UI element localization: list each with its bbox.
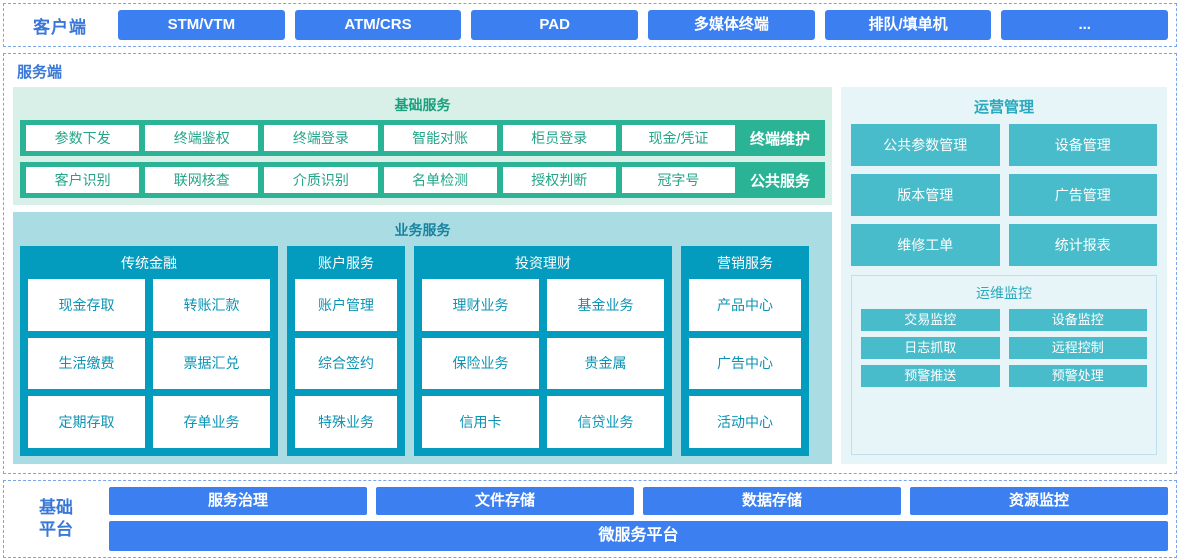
ops-item-version-management[interactable]: 版本管理 bbox=[851, 174, 1000, 216]
basic-item-list-check[interactable]: 名单检测 bbox=[384, 167, 497, 193]
ops-item-device-management[interactable]: 设备管理 bbox=[1009, 124, 1158, 166]
architecture-diagram: 客户端 STM/VTM ATM/CRS PAD 多媒体终端 排队/填单机 ...… bbox=[0, 0, 1180, 560]
biz-item-wealth-management[interactable]: 理财业务 bbox=[422, 279, 539, 331]
biz-item-certificate-deposit[interactable]: 存单业务 bbox=[153, 396, 270, 448]
client-item-pad[interactable]: PAD bbox=[471, 10, 638, 40]
basic-item-terminal-login[interactable]: 终端登录 bbox=[264, 125, 377, 151]
basic-item-cash-voucher[interactable]: 现金/凭证 bbox=[622, 125, 735, 151]
biz-item-cash-deposit-withdraw[interactable]: 现金存取 bbox=[28, 279, 145, 331]
biz-item-account-management[interactable]: 账户管理 bbox=[295, 279, 397, 331]
operations-management-title: 运营管理 bbox=[851, 92, 1157, 124]
business-group-title: 账户服务 bbox=[295, 250, 397, 279]
monitor-item-remote-control[interactable]: 远程控制 bbox=[1009, 337, 1148, 359]
biz-item-product-center[interactable]: 产品中心 bbox=[689, 279, 801, 331]
platform-title-line1: 基础 bbox=[12, 497, 100, 519]
business-group-account-services: 账户服务 账户管理 综合签约 特殊业务 bbox=[287, 246, 405, 456]
biz-item-insurance-business[interactable]: 保险业务 bbox=[422, 338, 539, 390]
services-column: 基础服务 参数下发 终端鉴权 终端登录 智能对账 柜员登录 现金/凭证 终端维护… bbox=[13, 87, 832, 464]
basic-services-block: 基础服务 参数下发 终端鉴权 终端登录 智能对账 柜员登录 现金/凭证 终端维护… bbox=[13, 87, 832, 205]
business-services-title: 业务服务 bbox=[20, 216, 825, 246]
platform-layer: 基础 平台 服务治理 文件存储 数据存储 资源监控 微服务平台 bbox=[3, 480, 1177, 558]
business-services-groups: 传统金融 现金存取 转账汇款 生活缴费 票据汇兑 定期存取 存单业务 bbox=[20, 246, 825, 456]
client-item-stm-vtm[interactable]: STM/VTM bbox=[118, 10, 285, 40]
biz-item-comprehensive-signing[interactable]: 综合签约 bbox=[295, 338, 397, 390]
business-group-items: 现金存取 转账汇款 生活缴费 票据汇兑 定期存取 存单业务 bbox=[28, 279, 270, 448]
platform-item-microservice-platform[interactable]: 微服务平台 bbox=[109, 521, 1168, 551]
basic-item-customer-identification[interactable]: 客户识别 bbox=[26, 167, 139, 193]
terminal-maintenance-tag: 终端维护 bbox=[741, 128, 819, 149]
business-group-marketing: 营销服务 产品中心 广告中心 活动中心 bbox=[681, 246, 809, 456]
client-item-atm-crs[interactable]: ATM/CRS bbox=[295, 10, 462, 40]
business-group-items: 理财业务 基金业务 保险业务 贵金属 信用卡 信贷业务 bbox=[422, 279, 664, 448]
basic-item-terminal-auth[interactable]: 终端鉴权 bbox=[145, 125, 258, 151]
monitor-item-device-monitoring[interactable]: 设备监控 bbox=[1009, 309, 1148, 331]
biz-item-advertising-center[interactable]: 广告中心 bbox=[689, 338, 801, 390]
biz-item-transfer-remittance[interactable]: 转账汇款 bbox=[153, 279, 270, 331]
basic-item-online-verification[interactable]: 联网核查 bbox=[145, 167, 258, 193]
platform-item-data-storage[interactable]: 数据存储 bbox=[643, 487, 901, 515]
operations-monitoring-title: 运维监控 bbox=[861, 280, 1147, 309]
operations-management-panel: 运营管理 公共参数管理 设备管理 版本管理 广告管理 维修工单 统计报表 运维监… bbox=[841, 87, 1167, 464]
monitor-item-transaction-monitoring[interactable]: 交易监控 bbox=[861, 309, 1000, 331]
platform-title-line2: 平台 bbox=[12, 519, 100, 541]
business-group-title: 营销服务 bbox=[689, 250, 801, 279]
client-item-queue-form-machine[interactable]: 排队/填单机 bbox=[825, 10, 992, 40]
operations-monitoring-items: 交易监控 设备监控 日志抓取 远程控制 预警推送 预警处理 bbox=[861, 309, 1147, 387]
platform-item-file-storage[interactable]: 文件存储 bbox=[376, 487, 634, 515]
biz-item-bill-exchange[interactable]: 票据汇兑 bbox=[153, 338, 270, 390]
server-layer: 服务端 基础服务 参数下发 终端鉴权 终端登录 智能对账 柜员登录 现金/凭证 … bbox=[3, 53, 1177, 474]
business-group-traditional-finance: 传统金融 现金存取 转账汇款 生活缴费 票据汇兑 定期存取 存单业务 bbox=[20, 246, 278, 456]
basic-services-title: 基础服务 bbox=[20, 92, 825, 120]
business-group-title: 投资理财 bbox=[422, 250, 664, 279]
platform-items: 服务治理 文件存储 数据存储 资源监控 bbox=[109, 487, 1168, 515]
platform-layer-title: 基础 平台 bbox=[12, 497, 100, 541]
monitor-item-alert-handling[interactable]: 预警处理 bbox=[1009, 365, 1148, 387]
basic-item-smart-reconciliation[interactable]: 智能对账 bbox=[384, 125, 497, 151]
biz-item-credit-business[interactable]: 信贷业务 bbox=[547, 396, 664, 448]
ops-item-public-parameter-management[interactable]: 公共参数管理 bbox=[851, 124, 1000, 166]
operations-items: 公共参数管理 设备管理 版本管理 广告管理 维修工单 统计报表 bbox=[851, 124, 1157, 266]
terminal-maintenance-row: 参数下发 终端鉴权 终端登录 智能对账 柜员登录 现金/凭证 终端维护 bbox=[20, 120, 825, 156]
monitor-item-log-capture[interactable]: 日志抓取 bbox=[861, 337, 1000, 359]
client-item-multimedia-terminal[interactable]: 多媒体终端 bbox=[648, 10, 815, 40]
basic-item-media-recognition[interactable]: 介质识别 bbox=[264, 167, 377, 193]
server-layer-title: 服务端 bbox=[17, 61, 1167, 82]
biz-item-special-business[interactable]: 特殊业务 bbox=[295, 396, 397, 448]
basic-item-teller-login[interactable]: 柜员登录 bbox=[503, 125, 616, 151]
ops-item-advertising-management[interactable]: 广告管理 bbox=[1009, 174, 1158, 216]
biz-item-activity-center[interactable]: 活动中心 bbox=[689, 396, 801, 448]
biz-item-credit-card[interactable]: 信用卡 bbox=[422, 396, 539, 448]
business-group-items: 账户管理 综合签约 特殊业务 bbox=[295, 279, 397, 448]
platform-item-resource-monitoring[interactable]: 资源监控 bbox=[910, 487, 1168, 515]
biz-item-fund-business[interactable]: 基金业务 bbox=[547, 279, 664, 331]
client-layer: 客户端 STM/VTM ATM/CRS PAD 多媒体终端 排队/填单机 ... bbox=[3, 3, 1177, 47]
client-item-more[interactable]: ... bbox=[1001, 10, 1168, 40]
client-layer-title: 客户端 bbox=[12, 13, 108, 38]
operations-monitoring-panel: 运维监控 交易监控 设备监控 日志抓取 远程控制 预警推送 预警处理 bbox=[851, 275, 1157, 455]
platform-content: 服务治理 文件存储 数据存储 资源监控 微服务平台 bbox=[109, 487, 1168, 551]
ops-item-repair-work-order[interactable]: 维修工单 bbox=[851, 224, 1000, 266]
platform-item-service-governance[interactable]: 服务治理 bbox=[109, 487, 367, 515]
biz-item-precious-metals[interactable]: 贵金属 bbox=[547, 338, 664, 390]
biz-item-time-deposit[interactable]: 定期存取 bbox=[28, 396, 145, 448]
business-group-investment: 投资理财 理财业务 基金业务 保险业务 贵金属 信用卡 信贷业务 bbox=[414, 246, 672, 456]
ops-item-statistical-report[interactable]: 统计报表 bbox=[1009, 224, 1158, 266]
public-services-row: 客户识别 联网核查 介质识别 名单检测 授权判断 冠字号 公共服务 bbox=[20, 162, 825, 198]
business-services-block: 业务服务 传统金融 现金存取 转账汇款 生活缴费 票据汇兑 定期存取 存单业务 bbox=[13, 212, 832, 464]
server-layer-body: 基础服务 参数下发 终端鉴权 终端登录 智能对账 柜员登录 现金/凭证 终端维护… bbox=[13, 87, 1167, 464]
monitor-item-alert-push[interactable]: 预警推送 bbox=[861, 365, 1000, 387]
basic-item-param-dispatch[interactable]: 参数下发 bbox=[26, 125, 139, 151]
business-group-title: 传统金融 bbox=[28, 250, 270, 279]
public-services-tag: 公共服务 bbox=[741, 170, 819, 191]
basic-item-serial-number[interactable]: 冠字号 bbox=[622, 167, 735, 193]
biz-item-living-payment[interactable]: 生活缴费 bbox=[28, 338, 145, 390]
business-group-items: 产品中心 广告中心 活动中心 bbox=[689, 279, 801, 448]
basic-item-authorization-judgement[interactable]: 授权判断 bbox=[503, 167, 616, 193]
